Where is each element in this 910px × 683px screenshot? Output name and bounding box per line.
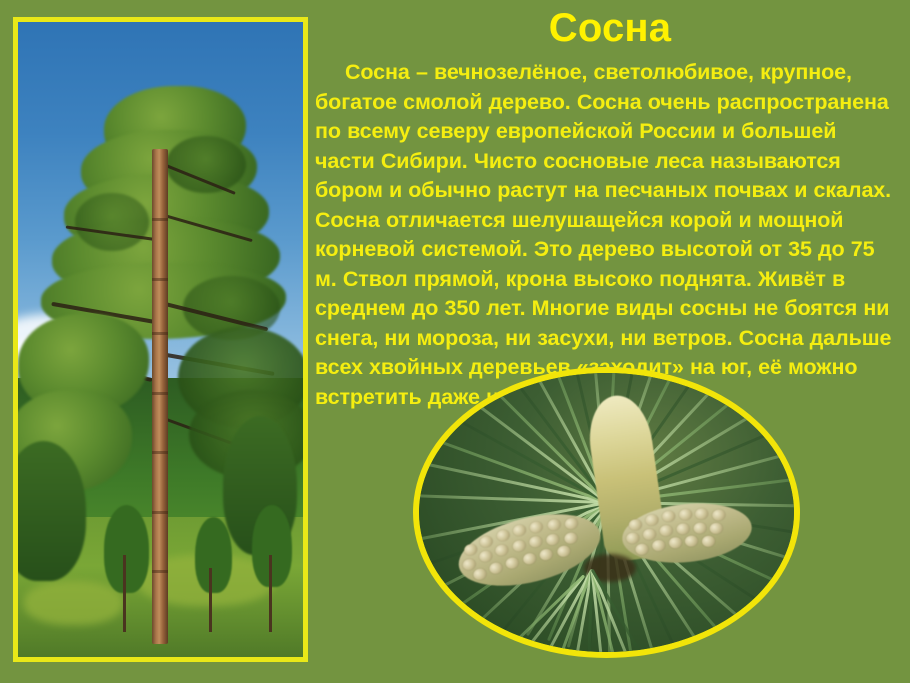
- pine-cone-photo-canvas: [419, 373, 794, 652]
- page-title: Сосна: [310, 3, 910, 53]
- pine-tree-photo-canvas: [18, 22, 303, 657]
- pine-tree-photo: [13, 17, 308, 662]
- sapling-trunk: [123, 555, 126, 631]
- crown-shadow: [75, 193, 149, 250]
- body-paragraph: Сосна – вечнозелёное, светолюбивое, круп…: [315, 58, 898, 412]
- meadow-patch: [24, 581, 124, 625]
- tree-trunk: [152, 149, 168, 644]
- pine-cone-photo: [413, 367, 800, 658]
- sapling-trunk: [209, 568, 212, 632]
- sapling-trunk: [269, 555, 272, 631]
- slide-root: Сосна Сосна – вечнозелёное, светолюбивое…: [0, 0, 910, 683]
- crown-shadow: [166, 136, 246, 193]
- sapling: [195, 517, 232, 593]
